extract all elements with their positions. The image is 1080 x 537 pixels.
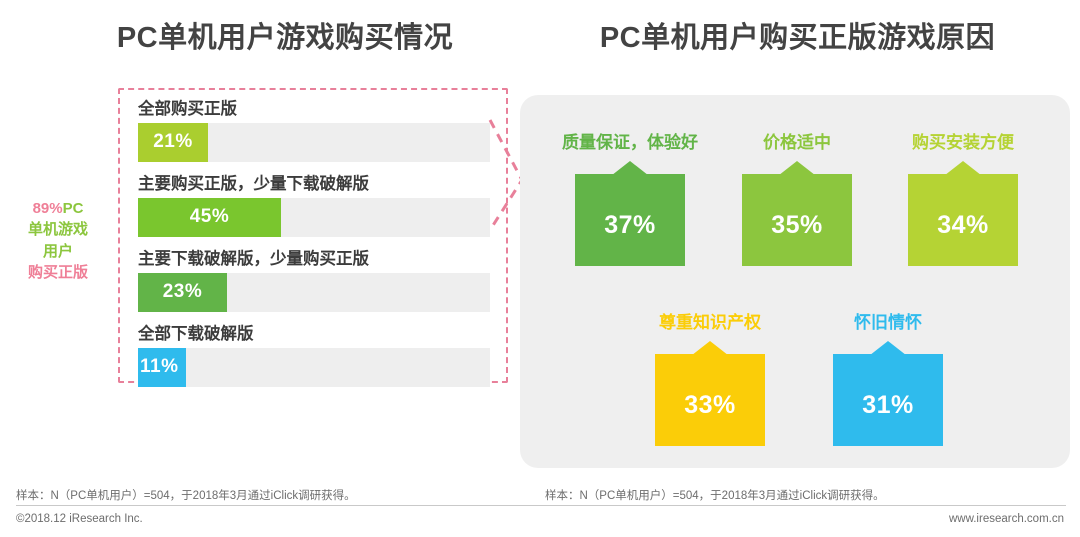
bar-value: 21% [153, 131, 193, 153]
bar-track: 23% [138, 273, 490, 312]
website-url: www.iresearch.com.cn [949, 513, 1064, 525]
bar-value: 11% [140, 356, 178, 378]
bar-value: 45% [190, 206, 230, 228]
bar-row: 主要下载破解版，少量购买正版 23% [138, 250, 490, 312]
bar-fill: 21% [138, 123, 208, 162]
right-reasons-panel: 质量保证，体验好 37% 价格适中 35% 购买安装方便 34% [520, 95, 1070, 468]
side-note-line2: 单机游戏 [28, 221, 88, 238]
bar-track: 45% [138, 198, 490, 237]
side-note-line4: 购买正版 [28, 264, 88, 281]
bar-label: 主要下载破解版，少量购买正版 [138, 250, 490, 269]
reason-card-value: 37% [575, 211, 685, 240]
bar-row: 全部购买正版 21% [138, 100, 490, 162]
reason-card-label: 质量保证，体验好 [562, 128, 698, 153]
bar-fill: 45% [138, 198, 281, 237]
bar-label: 全部下载破解版 [138, 325, 490, 344]
left-footnote: 样本：N（PC单机用户）=504，于2018年3月通过iClick调研获得。 [16, 487, 356, 503]
highlight-side-note: 89%PC 单机游戏 用户 购买正版 [2, 198, 114, 283]
reason-card-value: 35% [742, 211, 852, 240]
reason-card-value: 33% [655, 391, 765, 420]
bar-row: 全部下载破解版 11% [138, 325, 490, 387]
reason-card-shape: 37% [575, 161, 685, 266]
reason-card-label: 购买安装方便 [912, 128, 1014, 153]
footer-divider [16, 505, 1066, 506]
reason-card-label: 价格适中 [763, 128, 831, 153]
left-chart-title: PC单机用户游戏购买情况 [50, 14, 520, 56]
reason-card-value: 31% [833, 391, 943, 420]
left-chart-panel: 89%PC 单机游戏 用户 购买正版 全部购买正版 21% 主要购买正版，少量下… [0, 88, 515, 468]
reason-card-shape: 31% [833, 341, 943, 446]
bar-value: 23% [163, 281, 203, 303]
side-note-pc: PC [63, 200, 84, 217]
reason-card-shape: 33% [655, 341, 765, 446]
bar-fill: 11% [138, 348, 186, 387]
reason-card-shape: 35% [742, 161, 852, 266]
side-note-line3: 用户 [43, 243, 73, 260]
bar-fill: 23% [138, 273, 227, 312]
reason-card-label: 怀旧情怀 [854, 308, 922, 333]
slide-root: PC单机用户游戏购买情况 PC单机用户购买正版游戏原因 89%PC 单机游戏 用… [0, 0, 1080, 537]
horizontal-bar-list: 全部购买正版 21% 主要购买正版，少量下载破解版 45% 主要下载破解版，少量… [138, 100, 490, 400]
bar-track: 21% [138, 123, 490, 162]
bar-row: 主要购买正版，少量下载破解版 45% [138, 175, 490, 237]
reason-card-value: 34% [908, 211, 1018, 240]
copyright-text: ©2018.12 iResearch Inc. [16, 513, 143, 525]
reason-card-shape: 34% [908, 161, 1018, 266]
bar-label: 全部购买正版 [138, 100, 490, 119]
right-footnote: 样本：N（PC单机用户）=504，于2018年3月通过iClick调研获得。 [545, 487, 885, 503]
right-chart-title: PC单机用户购买正版游戏原因 [525, 14, 1070, 56]
bar-label: 主要购买正版，少量下载破解版 [138, 175, 490, 194]
bar-track: 11% [138, 348, 490, 387]
side-note-percent: 89% [33, 200, 63, 217]
reason-card-label: 尊重知识产权 [659, 308, 761, 333]
